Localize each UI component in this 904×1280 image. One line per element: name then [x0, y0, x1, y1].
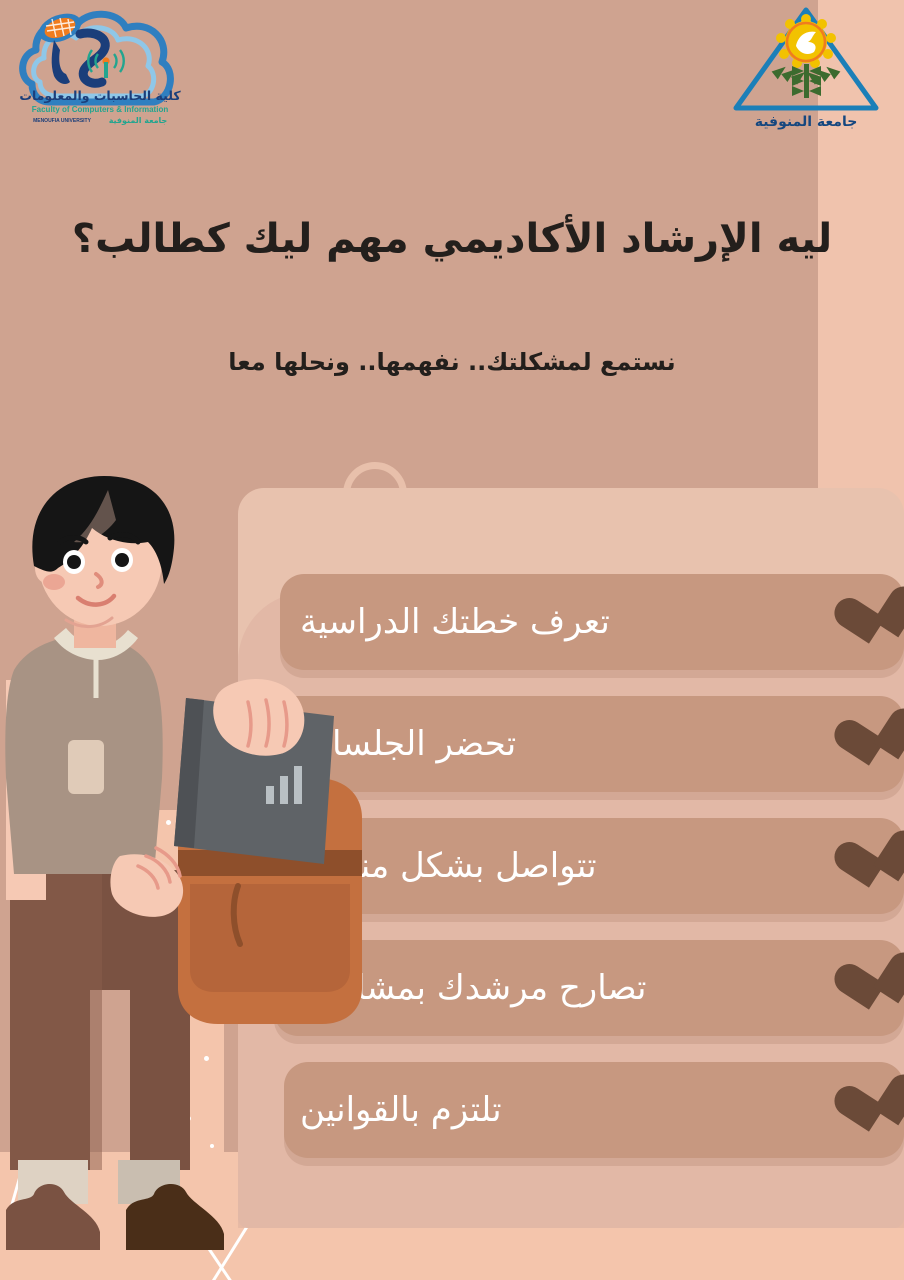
university-logo: جامعة المنوفية — [726, 4, 886, 132]
student-illustration — [0, 470, 370, 1280]
heart-icon — [831, 835, 900, 904]
list-item-label: تحضر الجلسات — [300, 696, 818, 792]
list-item-label: تعرف خطتك الدراسية — [300, 574, 818, 670]
list-item-label: تلتزم بالقوانين — [300, 1062, 818, 1158]
page-subtitle: نستمع لمشكلتك.. نفهمها.. ونحلها معا — [0, 348, 904, 376]
svg-text:MENOUFIA UNIVERSITY: MENOUFIA UNIVERSITY — [33, 118, 92, 124]
heart-icon — [831, 713, 900, 782]
heart-icon — [831, 957, 900, 1026]
poster-root: كلية الحاسبات والمعلومات Faculty of Comp… — [0, 0, 904, 1280]
heart-icon — [831, 1079, 900, 1148]
svg-text:Faculty of Computers & Informa: Faculty of Computers & Information — [32, 105, 169, 114]
list-item-label: تصارح مرشدك بمشاكلك — [300, 940, 818, 1036]
university-logo-caption: جامعة المنوفية — [726, 114, 886, 130]
svg-text:جامعة المنوفية: جامعة المنوفية — [109, 116, 168, 125]
svg-text:كلية الحاسبات والمعلومات: كلية الحاسبات والمعلومات — [19, 88, 181, 103]
faculty-logo: كلية الحاسبات والمعلومات Faculty of Comp… — [14, 6, 186, 134]
heart-icon — [831, 591, 900, 660]
list-item-label: تتواصل بشكل منتظم — [300, 818, 818, 914]
page-title: ليه الإرشاد الأكاديمي مهم ليك كطالب؟ — [0, 216, 904, 262]
